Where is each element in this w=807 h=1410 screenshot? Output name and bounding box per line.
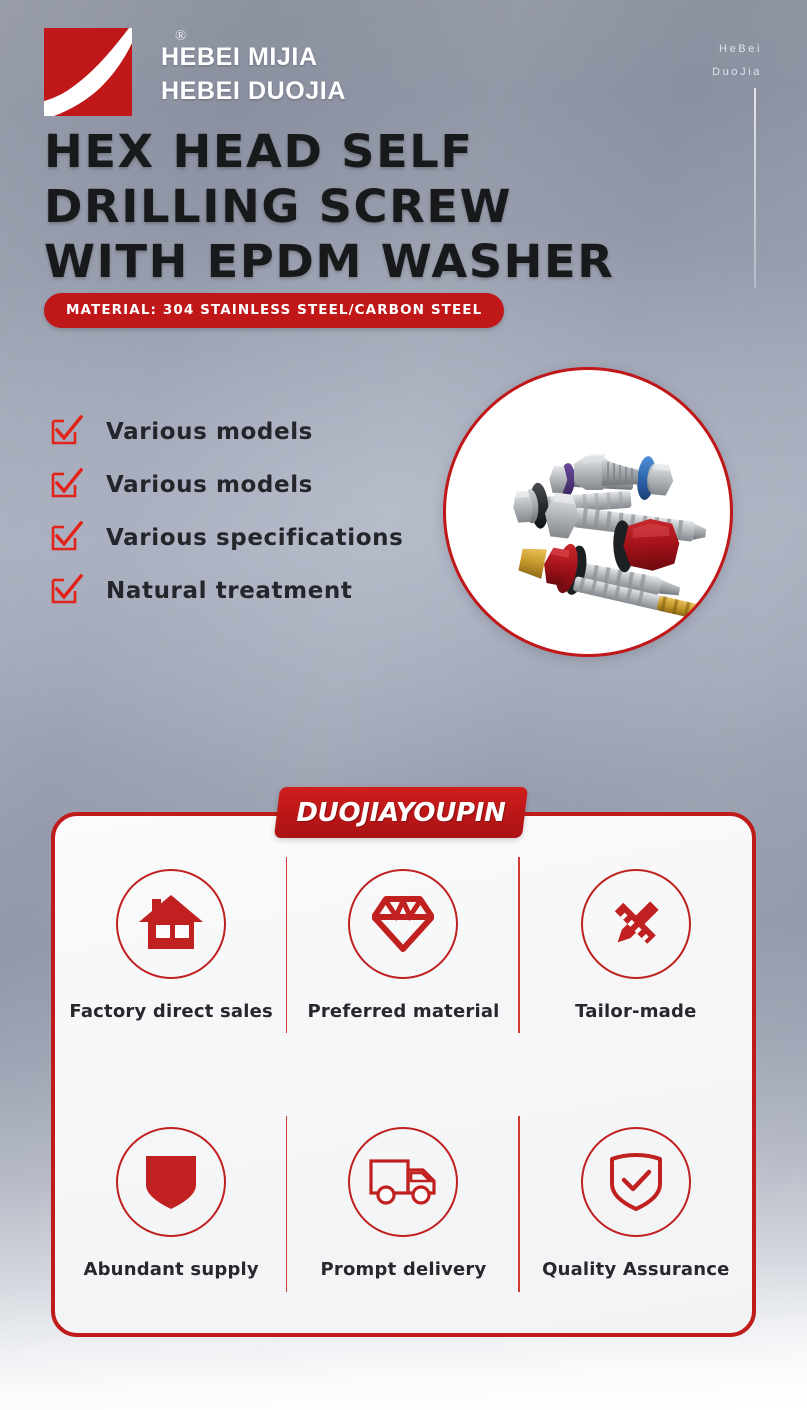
advantage-preferred-material: Preferred material bbox=[287, 816, 519, 1075]
advantage-label: Preferred material bbox=[307, 1001, 499, 1022]
list-item: Natural treatment bbox=[52, 564, 452, 617]
advantage-label: Prompt delivery bbox=[321, 1259, 487, 1280]
diamond-icon bbox=[348, 869, 458, 979]
headline-line-3: WITH EPDM WASHER bbox=[44, 234, 724, 289]
advantage-factory-direct-sales: Factory direct sales bbox=[55, 816, 287, 1075]
pencil-ruler-icon bbox=[581, 869, 691, 979]
checkbox-checked-icon bbox=[52, 472, 78, 498]
material-badge: MATERIAL: 304 STAINLESS STEEL/CARBON STE… bbox=[44, 293, 504, 328]
list-item: Various models bbox=[52, 458, 452, 511]
checkbox-checked-icon bbox=[52, 578, 78, 604]
company-name-line-1: HEBEI MIJIA bbox=[161, 44, 346, 70]
headline-line-2: DRILLING SCREW bbox=[44, 179, 724, 234]
list-item: Various specifications bbox=[52, 511, 452, 564]
company-name-line-2: HEBEI DUOJIA bbox=[161, 78, 346, 104]
poster-canvas: ® HEBEI MIJIA HEBEI DUOJIA HeBei DuoJia … bbox=[0, 0, 807, 1410]
checkbox-checked-icon bbox=[52, 419, 78, 445]
advantage-label: Tailor-made bbox=[575, 1001, 696, 1022]
checkbox-checked-icon bbox=[52, 525, 78, 551]
list-item: Various models bbox=[52, 405, 452, 458]
brand-banner: DUOJIAYOUPIN bbox=[274, 787, 528, 838]
corner-brand-line-2: DuoJia bbox=[712, 61, 762, 84]
list-item-label: Various models bbox=[106, 472, 313, 498]
list-item-label: Various specifications bbox=[106, 525, 403, 551]
shield-solid-icon bbox=[116, 1127, 226, 1237]
screws-illustration-icon bbox=[446, 370, 730, 654]
product-photo bbox=[443, 367, 733, 657]
brand-banner-label: DUOJIAYOUPIN bbox=[277, 787, 525, 838]
shield-check-icon bbox=[581, 1127, 691, 1237]
truck-icon bbox=[348, 1127, 458, 1237]
advantage-abundant-supply: Abundant supply bbox=[55, 1075, 287, 1334]
brand-header: ® HEBEI MIJIA HEBEI DUOJIA bbox=[44, 28, 346, 116]
advantage-label: Quality Assurance bbox=[542, 1259, 730, 1280]
registered-trademark-icon: ® bbox=[175, 28, 186, 45]
list-item-label: Various models bbox=[106, 419, 313, 445]
list-item-label: Natural treatment bbox=[106, 578, 352, 604]
advantage-tailor-made: Tailor-made bbox=[520, 816, 752, 1075]
advantage-label: Factory direct sales bbox=[69, 1001, 273, 1022]
corner-vertical-rule bbox=[754, 88, 756, 288]
page-title: HEX HEAD SELF DRILLING SCREW WITH EPDM W… bbox=[44, 124, 704, 289]
headline-line-1: HEX HEAD SELF bbox=[44, 124, 724, 179]
company-name-block: HEBEI MIJIA HEBEI DUOJIA bbox=[161, 28, 346, 105]
mijia-swoosh-logo-icon bbox=[44, 28, 132, 116]
advantage-label: Abundant supply bbox=[83, 1259, 258, 1280]
corner-brand-line-1: HeBei bbox=[712, 38, 762, 61]
house-icon bbox=[116, 869, 226, 979]
feature-checklist: Various models Various models Various bbox=[52, 405, 452, 617]
advantage-prompt-delivery: Prompt delivery bbox=[287, 1075, 519, 1334]
advantages-panel: Factory direct sales Preferred material bbox=[51, 812, 756, 1337]
corner-brand-text: HeBei DuoJia bbox=[712, 38, 762, 84]
advantage-quality-assurance: Quality Assurance bbox=[520, 1075, 752, 1334]
